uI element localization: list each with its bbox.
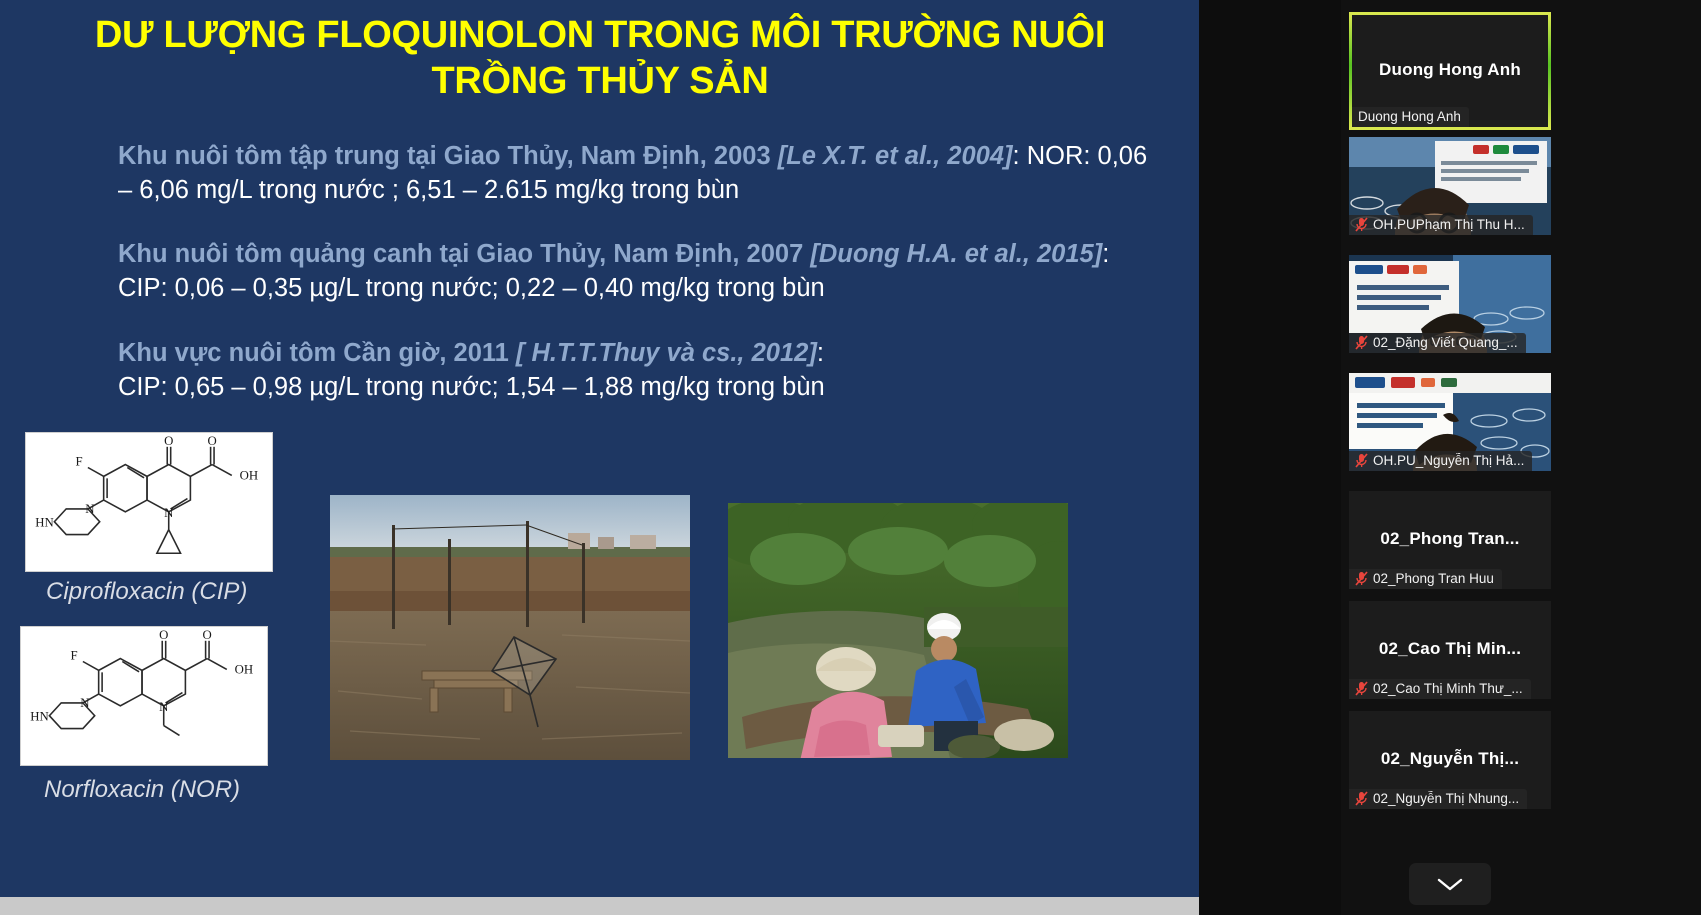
- muted-mic-icon: [1355, 681, 1368, 696]
- paragraph-1-colon: :: [1013, 142, 1027, 170]
- participant-tile-cao-thi-minh-thu[interactable]: 02_Cao Thị Min... 02_Cao Thị Minh Thư_..…: [1349, 601, 1551, 699]
- chevron-down-icon: [1437, 877, 1463, 892]
- participant-footer: 02_Phong Tran Huu: [1349, 569, 1502, 589]
- participant-tile-nguyen-thi-ha[interactable]: OH.PU_Nguyễn Thị Hả...: [1349, 373, 1551, 471]
- participant-footer-name: OH.PU_Nguyễn Thị Hả...: [1373, 453, 1524, 468]
- paragraph-1-citation: [Le X.T. et al., 2004]: [778, 142, 1013, 170]
- svg-text:N: N: [85, 502, 94, 516]
- svg-text:HN: HN: [30, 710, 48, 724]
- slide-paragraph-1: Khu nuôi tôm tập trung tại Giao Thủy, Na…: [118, 140, 1148, 207]
- ciprofloxacin-structure-image: F O O OH N N HN: [25, 432, 273, 572]
- participant-footer-name: 02_Đặng Viết Quang_...: [1373, 335, 1518, 350]
- participant-display-name: 02_Cao Thị Min...: [1349, 639, 1551, 659]
- muted-mic-icon: [1355, 791, 1368, 806]
- participant-footer: 02_Đặng Viết Quang_...: [1349, 333, 1526, 353]
- participant-tile-pham-thi-thu-h[interactable]: OH.PUPhạm Thị Thu H...: [1349, 137, 1551, 235]
- participant-footer: 02_Cao Thị Minh Thư_...: [1349, 679, 1531, 699]
- paragraph-1-lead: Khu nuôi tôm tập trung tại Giao Thủy, Na…: [118, 142, 778, 170]
- photo-people-on-boat: [728, 503, 1068, 758]
- slide-bottom-strip: [0, 897, 1199, 915]
- norfloxacin-caption: Norfloxacin (NOR): [44, 776, 240, 804]
- participant-footer-name: 02_Nguyễn Thị Nhung...: [1373, 791, 1519, 806]
- participant-display-name: 02_Phong Tran...: [1349, 529, 1551, 549]
- muted-mic-icon: [1355, 335, 1368, 350]
- participant-tile-dang-viet-quang[interactable]: 02_Đặng Viết Quang_...: [1349, 255, 1551, 353]
- participant-tile-duong-hong-anh[interactable]: Duong Hong Anh Duong Hong Anh: [1349, 12, 1551, 130]
- muted-mic-icon: [1355, 571, 1368, 586]
- svg-text:F: F: [70, 649, 77, 663]
- participant-footer-name: 02_Phong Tran Huu: [1373, 571, 1494, 586]
- participant-display-name: Duong Hong Anh: [1352, 60, 1548, 80]
- svg-text:N: N: [159, 700, 168, 714]
- photo-shrimp-pond: [330, 495, 690, 760]
- svg-text:O: O: [164, 434, 173, 448]
- participant-tile-phong-tran-huu[interactable]: 02_Phong Tran... 02_Phong Tran Huu: [1349, 491, 1551, 589]
- svg-text:O: O: [159, 628, 168, 642]
- svg-text:N: N: [164, 506, 173, 520]
- zoom-meeting-window: DƯ LƯỢNG FLOQUINOLON TRONG MÔI TRƯỜNG NU…: [0, 0, 1701, 915]
- svg-text:OH: OH: [240, 468, 258, 482]
- filmstrip-scroll-down-button[interactable]: [1409, 863, 1491, 905]
- presentation-slide: DƯ LƯỢNG FLOQUINOLON TRONG MÔI TRƯỜNG NU…: [0, 0, 1199, 897]
- meeting-background: [1199, 0, 1341, 915]
- muted-mic-icon: [1355, 453, 1368, 468]
- svg-text:O: O: [207, 434, 216, 448]
- participant-tile-nguyen-thi-nhung[interactable]: 02_Nguyễn Thị... 02_Nguyễn Thị Nhung...: [1349, 711, 1551, 809]
- paragraph-2-colon: :: [1102, 240, 1109, 268]
- paragraph-3-lead: Khu vực nuôi tôm Cần giờ, 2011: [118, 339, 516, 367]
- participant-footer: 02_Nguyễn Thị Nhung...: [1349, 789, 1527, 809]
- ciprofloxacin-caption: Ciprofloxacin (CIP): [46, 578, 247, 606]
- svg-text:N: N: [80, 696, 89, 710]
- slide-title: DƯ LƯỢNG FLOQUINOLON TRONG MÔI TRƯỜNG NU…: [40, 12, 1160, 105]
- paragraph-2-detail: CIP: 0,06 – 0,35 µg/L trong nước; 0,22 –…: [118, 274, 825, 302]
- participants-filmstrip[interactable]: Duong Hong Anh Duong Hong Anh: [1341, 0, 1701, 915]
- participant-display-name: 02_Nguyễn Thị...: [1349, 749, 1551, 769]
- norfloxacin-structure-image: F O O OH N N HN: [20, 626, 268, 766]
- shared-screen-region[interactable]: DƯ LƯỢNG FLOQUINOLON TRONG MÔI TRƯỜNG NU…: [0, 0, 1199, 915]
- svg-text:O: O: [202, 628, 211, 642]
- participant-footer-name: 02_Cao Thị Minh Thư_...: [1373, 681, 1523, 696]
- paragraph-3-citation: [ H.T.T.Thuy và cs., 2012]: [516, 339, 817, 367]
- paragraph-3-detail: CIP: 0,65 – 0,98 µg/L trong nước; 1,54 –…: [118, 373, 825, 401]
- svg-text:HN: HN: [35, 516, 53, 530]
- participant-footer-name: Duong Hong Anh: [1358, 109, 1461, 124]
- paragraph-2-citation: [Duong H.A. et al., 2015]: [810, 240, 1102, 268]
- svg-text:OH: OH: [235, 662, 253, 676]
- paragraph-2-lead: Khu nuôi tôm quảng canh tại Giao Thủy, N…: [118, 240, 810, 268]
- paragraph-3-colon: :: [817, 339, 824, 367]
- svg-text:F: F: [75, 455, 82, 469]
- participant-footer-name: OH.PUPhạm Thị Thu H...: [1373, 217, 1525, 232]
- participant-footer: OH.PUPhạm Thị Thu H...: [1349, 215, 1533, 235]
- participant-footer: Duong Hong Anh: [1352, 107, 1469, 127]
- participant-footer: OH.PU_Nguyễn Thị Hả...: [1349, 451, 1532, 471]
- muted-mic-icon: [1355, 217, 1368, 232]
- slide-paragraph-2: Khu nuôi tôm quảng canh tại Giao Thủy, N…: [118, 238, 1148, 305]
- slide-paragraph-3: Khu vực nuôi tôm Cần giờ, 2011 [ H.T.T.T…: [118, 337, 1148, 404]
